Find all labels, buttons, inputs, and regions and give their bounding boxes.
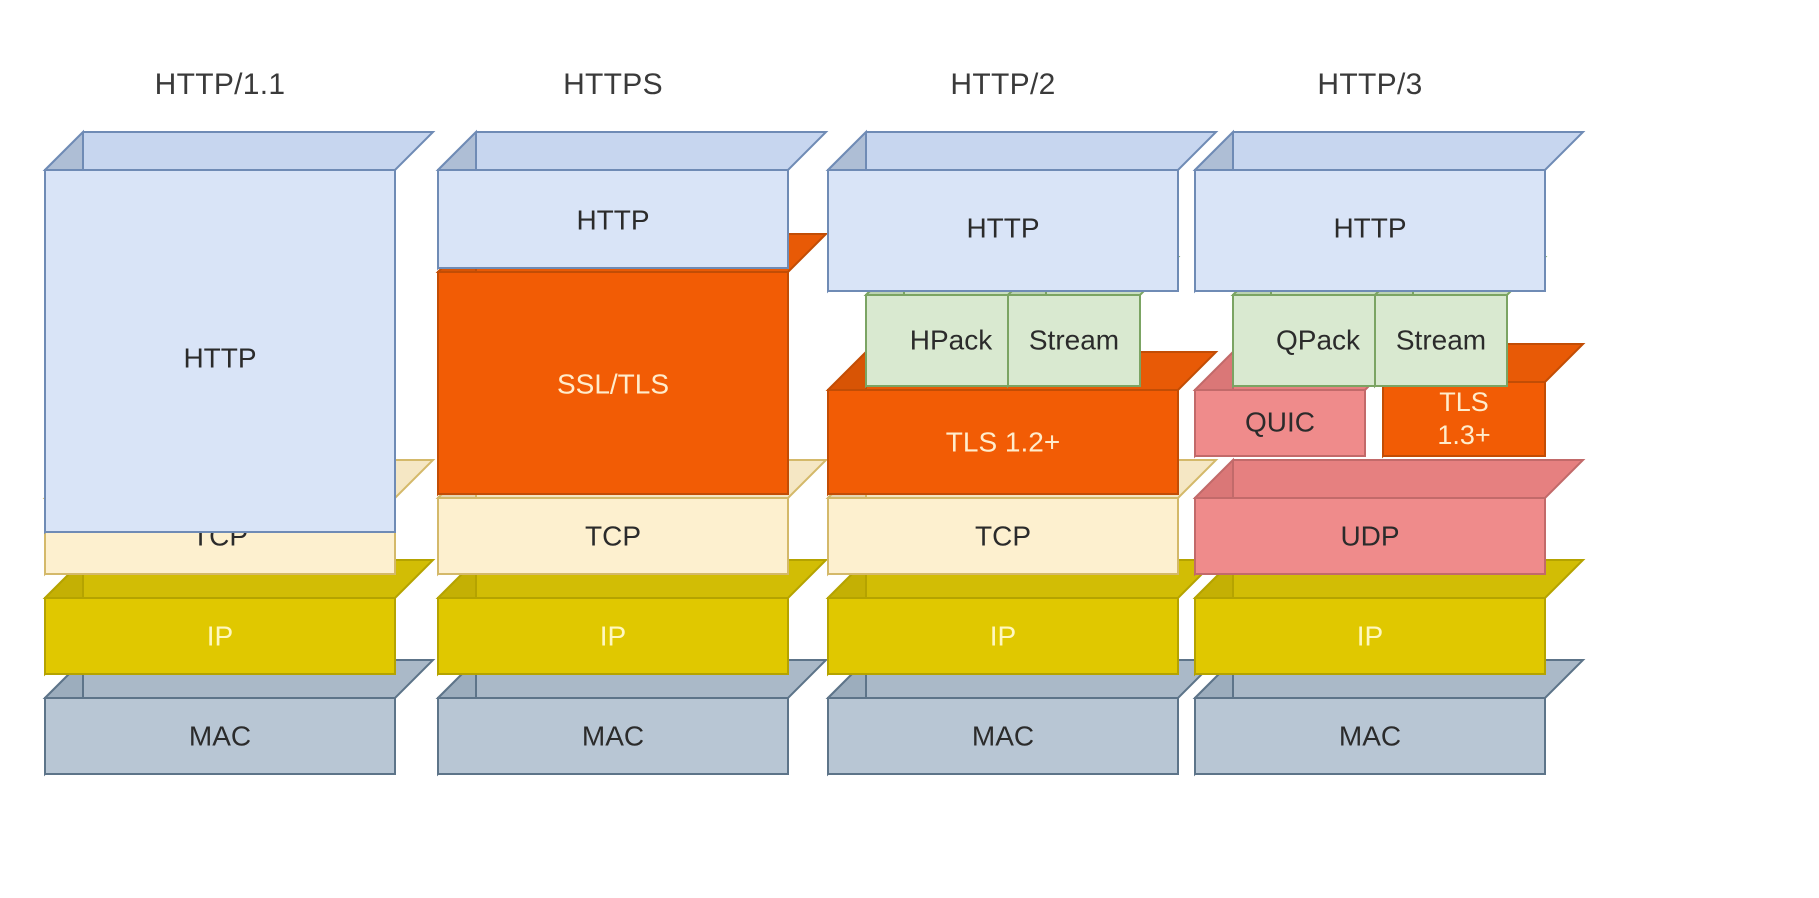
- box-mac-http2[interactable]: MAC: [828, 660, 1216, 774]
- box-http-http2[interactable]: HTTP: [828, 132, 1216, 291]
- box-ip-http3[interactable]: IP: [1195, 560, 1583, 674]
- column-http2: MAC IP TCP TLS 1.2+: [828, 132, 1216, 774]
- box-ssltls-https[interactable]: SSL/TLS: [438, 234, 826, 494]
- column-http3: MAC IP UDP TLS 1.3+: [1195, 132, 1583, 774]
- box-mac-https[interactable]: MAC: [438, 660, 826, 774]
- box-http-http3[interactable]: HTTP: [1195, 132, 1583, 291]
- box-ip-https[interactable]: IP: [438, 560, 826, 674]
- box-http-http11[interactable]: HTTP: [45, 132, 433, 532]
- box-udp-http3[interactable]: UDP: [1195, 460, 1583, 574]
- box-ip-http11[interactable]: IP: [45, 560, 433, 674]
- box-mac-http11[interactable]: MAC: [45, 660, 433, 774]
- protocol-stack-diagram: MAC IP TCP HTTP: [0, 0, 1819, 898]
- diagram-canvas: HTTP/1.1 HTTPS HTTP/2 HTTP/3 MAC IP: [0, 0, 1819, 898]
- box-ip-http2[interactable]: IP: [828, 560, 1216, 674]
- column-http11: MAC IP TCP HTTP: [45, 132, 433, 774]
- box-mac-http3[interactable]: MAC: [1195, 660, 1583, 774]
- box-http-https[interactable]: HTTP: [438, 132, 826, 268]
- column-https: MAC IP TCP SSL/TLS: [438, 132, 826, 774]
